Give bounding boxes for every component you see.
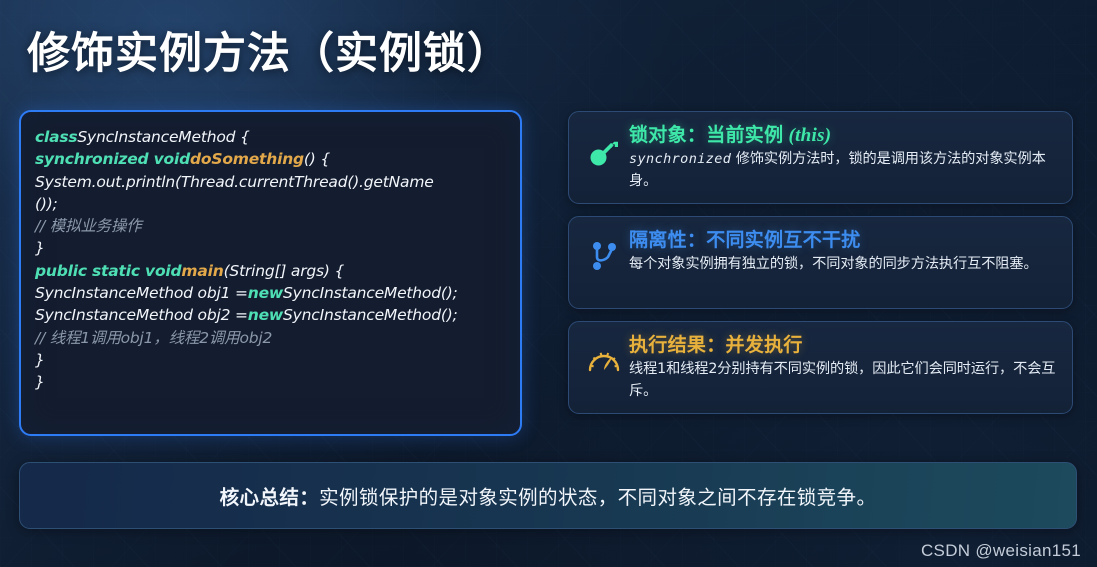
card-desc-text: 每个对象实例拥有独立的锁，不同对象的同步方法执行互不阻塞。: [629, 256, 1038, 272]
code-token: SyncInstanceMethod();: [283, 284, 458, 302]
code-token: ());: [35, 195, 58, 213]
code-panel: classSyncInstanceMethod {synchronized vo…: [19, 110, 522, 436]
code-token: main: [181, 262, 223, 280]
card-title-emphasis: (this): [788, 125, 831, 146]
code-line: }: [35, 371, 508, 393]
code-line: // 线程1调用obj1，线程2调用obj2: [35, 327, 508, 349]
code-lines: classSyncInstanceMethod {synchronized vo…: [35, 126, 508, 394]
code-token: SyncInstanceMethod obj1 =: [35, 284, 248, 302]
code-line: }: [35, 349, 508, 371]
code-line: System.out.println(Thread.currentThread(…: [35, 171, 508, 193]
code-line: classSyncInstanceMethod {: [35, 126, 508, 148]
code-token: new: [248, 306, 283, 324]
info-card-lock-object: 锁对象：当前实例 (this) synchronized 修饰实例方法时，锁的是…: [568, 111, 1073, 204]
code-token: () {: [304, 150, 330, 168]
card-description: 每个对象实例拥有独立的锁，不同对象的同步方法执行互不阻塞。: [629, 253, 1058, 275]
slide-root: 修饰实例方法（实例锁） classSyncInstanceMethod {syn…: [0, 0, 1097, 567]
code-token: public static void: [35, 262, 181, 280]
code-token: new: [248, 284, 283, 302]
code-line: public static voidmain(String[] args) {: [35, 260, 508, 282]
card-title-main: 执行结果：并发执行: [629, 335, 803, 356]
gauge-icon: [581, 333, 627, 391]
code-line: SyncInstanceMethod obj2 =newSyncInstance…: [35, 304, 508, 326]
card-desc-code: synchronized: [629, 151, 731, 167]
code-line: }: [35, 237, 508, 259]
info-card-isolation: 隔离性：不同实例互不干扰 每个对象实例拥有独立的锁，不同对象的同步方法执行互不阻…: [568, 216, 1073, 309]
code-token: SyncInstanceMethod();: [283, 306, 458, 324]
code-line: // 模拟业务操作: [35, 215, 508, 237]
card-body: 隔离性：不同实例互不干扰 每个对象实例拥有独立的锁，不同对象的同步方法执行互不阻…: [627, 228, 1058, 275]
code-token: class: [35, 128, 77, 146]
summary-lead: 核心总结：: [220, 488, 320, 509]
watermark: CSDN @weisian151: [921, 541, 1081, 561]
key-icon: [581, 123, 627, 181]
card-description: 线程1和线程2分别持有不同实例的锁，因此它们会同时运行，不会互斥。: [629, 358, 1058, 402]
code-token: // 模拟业务操作: [35, 217, 142, 235]
card-title-main: 隔离性：不同实例互不干扰: [629, 230, 861, 251]
code-token: doSomething: [190, 150, 304, 168]
card-description: synchronized 修饰实例方法时，锁的是调用该方法的对象实例本身。: [629, 148, 1058, 192]
card-title: 执行结果：并发执行: [629, 333, 1058, 358]
code-line: ());: [35, 193, 508, 215]
code-line: SyncInstanceMethod obj1 =newSyncInstance…: [35, 282, 508, 304]
card-body: 锁对象：当前实例 (this) synchronized 修饰实例方法时，锁的是…: [627, 123, 1058, 192]
code-token: System.out.println(Thread.currentThread(…: [35, 173, 434, 191]
code-token: }: [35, 351, 45, 369]
card-body: 执行结果：并发执行 线程1和线程2分别持有不同实例的锁，因此它们会同时运行，不会…: [627, 333, 1058, 402]
code-token: SyncInstanceMethod {: [77, 128, 249, 146]
card-desc-text: 线程1和线程2分别持有不同实例的锁，因此它们会同时运行，不会互斥。: [629, 361, 1055, 399]
card-title: 锁对象：当前实例 (this): [629, 123, 1058, 148]
code-line: synchronized voiddoSomething() {: [35, 148, 508, 170]
code-token: // 线程1调用obj1，线程2调用obj2: [35, 329, 272, 347]
info-card-execution-result: 执行结果：并发执行 线程1和线程2分别持有不同实例的锁，因此它们会同时运行，不会…: [568, 321, 1073, 414]
summary-body: 实例锁保护的是对象实例的状态，不同对象之间不存在锁竞争。: [319, 488, 876, 509]
code-token: synchronized void: [35, 150, 190, 168]
code-token: }: [35, 373, 45, 391]
card-title: 隔离性：不同实例互不干扰: [629, 228, 1058, 253]
code-token: (String[] args) {: [224, 262, 345, 280]
summary-text: 核心总结：实例锁保护的是对象实例的状态，不同对象之间不存在锁竞争。: [220, 481, 877, 510]
code-token: SyncInstanceMethod obj2 =: [35, 306, 248, 324]
page-title: 修饰实例方法（实例锁）: [27, 19, 511, 81]
summary-bar: 核心总结：实例锁保护的是对象实例的状态，不同对象之间不存在锁竞争。: [19, 462, 1077, 529]
code-token: }: [35, 239, 45, 257]
card-title-main: 锁对象：当前实例: [629, 125, 788, 146]
branch-icon: [581, 228, 627, 286]
